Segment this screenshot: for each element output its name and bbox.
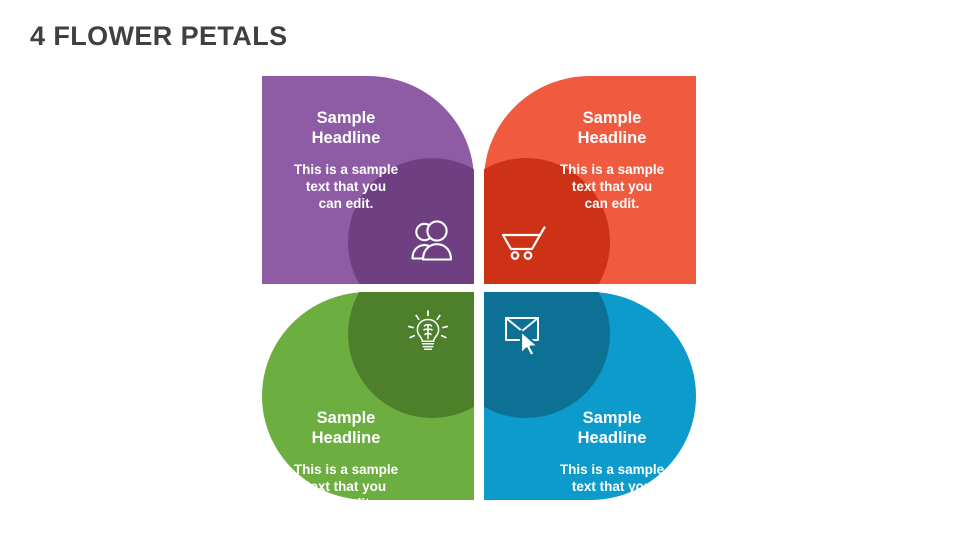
petal-bottom-right[interactable]: Sample Headline This is a sample text th… (484, 292, 696, 500)
lightbulb-idea-icon (402, 306, 454, 354)
slide-canvas: 4 FLOWER PETALS Sample Headline This is … (0, 0, 960, 540)
shopping-cart-icon (498, 216, 550, 264)
page-title: 4 FLOWER PETALS (30, 21, 288, 52)
users-icon (406, 218, 458, 266)
flower-petals-diagram: Sample Headline This is a sample text th… (262, 76, 696, 500)
petal-bottom-left[interactable]: Sample Headline This is a sample text th… (262, 292, 474, 500)
email-cursor-icon (500, 310, 552, 358)
petal-top-right[interactable]: Sample Headline This is a sample text th… (484, 76, 696, 284)
petal-top-left[interactable]: Sample Headline This is a sample text th… (262, 76, 474, 284)
